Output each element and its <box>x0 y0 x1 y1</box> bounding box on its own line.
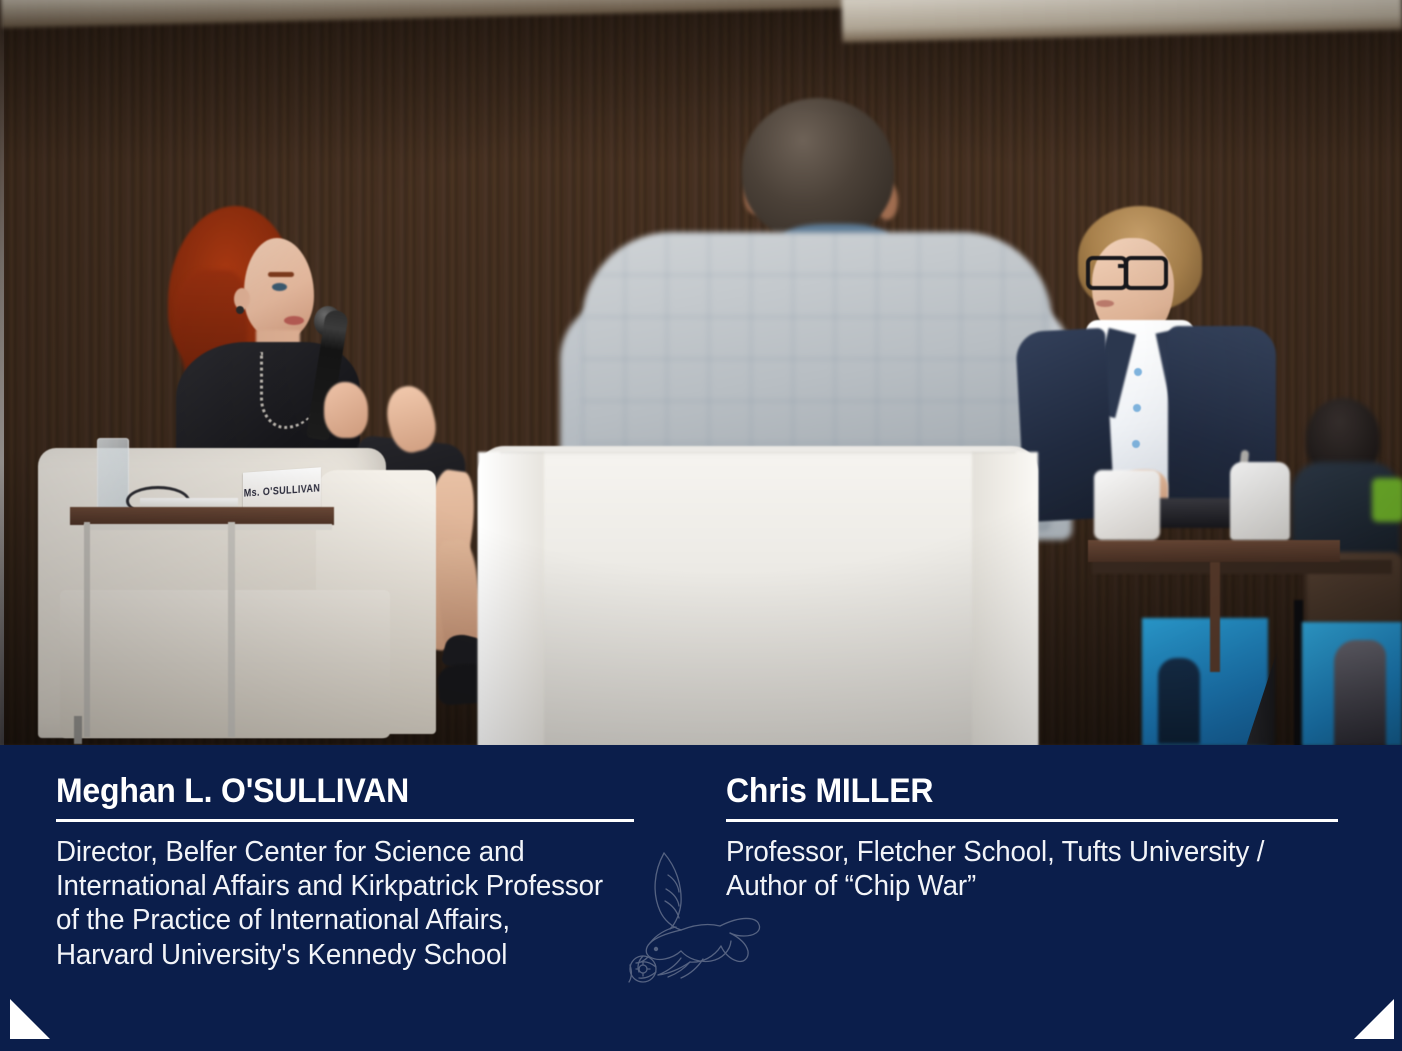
armchair-center <box>478 446 1038 745</box>
shirt-button-2 <box>1133 404 1141 412</box>
speaker-title-right: Professor, Fletcher School, Tufts Univer… <box>726 835 1314 903</box>
background-monitor-left <box>1142 618 1268 745</box>
speaker-right-eyeglass-bridge <box>1118 264 1127 268</box>
nameplate-osullivan: Ms. O'SULLIVAN <box>243 467 321 512</box>
photo-left-edge-highlight <box>0 0 4 745</box>
av-equipment-white-left <box>1094 470 1160 540</box>
speaker-left-lips <box>284 316 304 325</box>
speaker-panel-left: Meghan L. O'SULLIVAN Director, Belfer Ce… <box>0 745 701 1051</box>
speaker-right-eyeglass-right <box>1124 256 1168 290</box>
divider-right <box>726 819 1338 822</box>
divider-left <box>56 819 634 822</box>
speaker-right-lips <box>1096 300 1114 307</box>
speaker-left-eyebrow <box>268 272 294 277</box>
side-table-left-top <box>70 507 334 525</box>
side-table-right-leg <box>1210 562 1220 672</box>
background-green-object <box>1372 478 1402 522</box>
speaker-panel-right: Chris MILLER Professor, Fletcher School,… <box>701 745 1402 1051</box>
armchair-center-arm-right <box>972 452 1038 745</box>
shirt-button-3 <box>1132 440 1140 448</box>
armchair-left-leg <box>74 716 82 744</box>
slide-root: Ms. O'SULLIVAN <box>0 0 1402 1051</box>
shelf-edge <box>1092 560 1392 574</box>
armchair-left-seat <box>60 590 390 738</box>
speaker-name-right: Chris MILLER <box>726 773 1305 809</box>
panel-photo: Ms. O'SULLIVAN <box>0 0 1402 745</box>
armchair-center-seam <box>500 452 1016 453</box>
side-table-left-rail <box>84 524 332 530</box>
water-glass <box>97 438 129 518</box>
speaker-panels: Meghan L. O'SULLIVAN Director, Belfer Ce… <box>0 745 1402 1051</box>
speaker-right-eyeglass-left <box>1086 256 1128 290</box>
side-table-right-top <box>1088 540 1340 562</box>
speaker-title-left: Director, Belfer Center for Science and … <box>56 835 615 972</box>
speaker-left-eye <box>272 283 287 291</box>
background-monitor-right <box>1302 622 1402 745</box>
side-table-left-leg-b <box>228 522 235 737</box>
side-table-left-leg-a <box>84 522 90 737</box>
speaker-banner: Meghan L. O'SULLIVAN Director, Belfer Ce… <box>0 745 1402 1051</box>
speaker-left-hand-holding-mic <box>324 382 368 438</box>
moderator-head <box>742 98 894 240</box>
speaker-name-left: Meghan L. O'SULLIVAN <box>56 773 606 809</box>
speaker-left-earring <box>236 306 244 314</box>
shirt-button-1 <box>1134 368 1142 376</box>
armchair-center-arm-left <box>478 452 544 745</box>
av-equipment-white-right <box>1230 462 1290 540</box>
